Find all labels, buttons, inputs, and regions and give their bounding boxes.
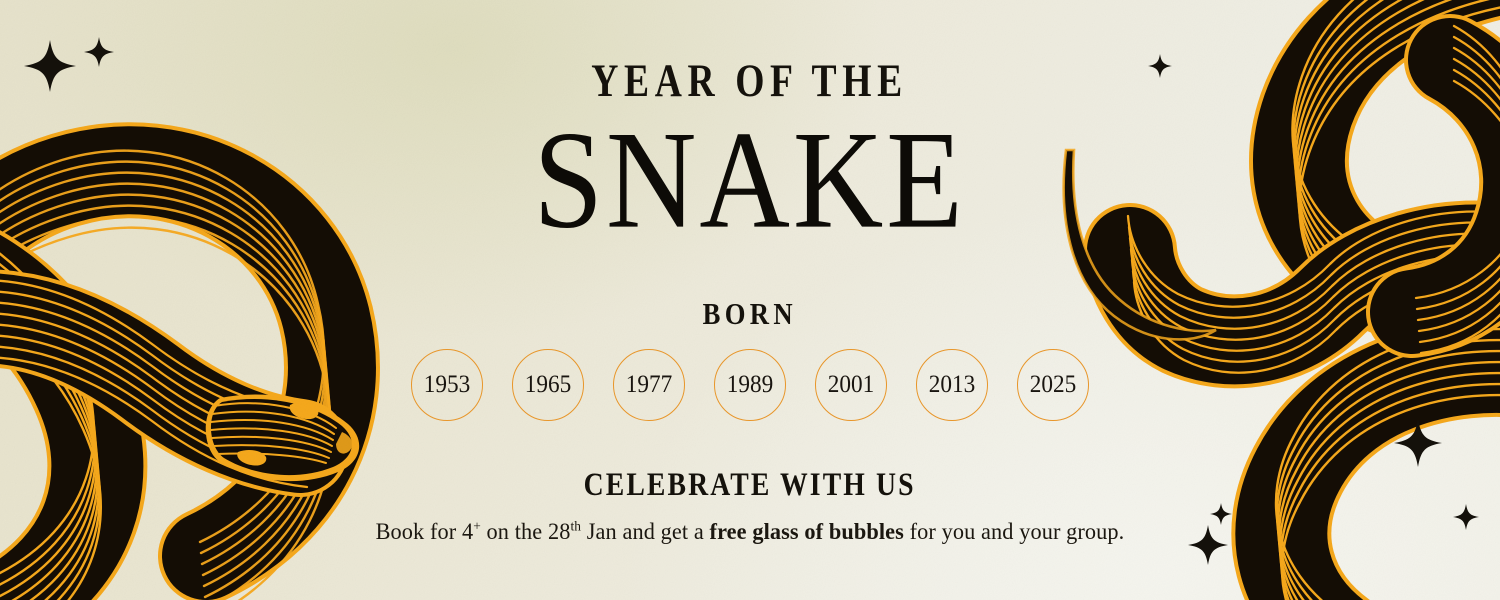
birth-years-row: 1953 1965 1977 1989 2001 2013 2025 <box>411 349 1089 421</box>
year-label: 2001 <box>828 372 875 397</box>
offer-sup-plus: + <box>473 518 481 533</box>
year-badge[interactable]: 1953 <box>411 349 483 421</box>
offer-highlight: free glass of bubbles <box>710 519 904 544</box>
celebrate-heading: CELEBRATE WITH US <box>584 467 916 504</box>
year-label: 1965 <box>525 372 572 397</box>
year-of-the-snake-banner: YEAR OF THE SNAKE BORN 1953 1965 1977 19… <box>0 0 1500 600</box>
year-badge[interactable]: 2025 <box>1017 349 1089 421</box>
offer-part-2: on the 28 <box>481 519 571 544</box>
banner-content: YEAR OF THE SNAKE BORN 1953 1965 1977 19… <box>0 0 1500 600</box>
year-badge[interactable]: 1977 <box>613 349 685 421</box>
year-badge[interactable]: 1965 <box>512 349 584 421</box>
kicker-text: YEAR OF THE <box>568 58 932 105</box>
year-label: 1989 <box>727 372 774 397</box>
year-label: 1953 <box>424 372 471 397</box>
title-block: YEAR OF THE SNAKE <box>522 58 977 248</box>
offer-text: Book for 4+ on the 28th Jan and get a fr… <box>376 519 1125 545</box>
year-badge[interactable]: 2013 <box>916 349 988 421</box>
offer-part-4: for you and your group. <box>904 519 1124 544</box>
year-label: 1977 <box>626 372 673 397</box>
born-label: BORN <box>703 296 797 332</box>
year-badge[interactable]: 1989 <box>714 349 786 421</box>
year-badge[interactable]: 2001 <box>815 349 887 421</box>
year-label: 2013 <box>929 372 976 397</box>
page-title: SNAKE <box>534 109 966 252</box>
year-label: 2025 <box>1030 372 1077 397</box>
offer-sup-th: th <box>571 518 582 533</box>
offer-part-1: Book for 4 <box>376 519 474 544</box>
offer-part-3: Jan and get a <box>581 519 709 544</box>
